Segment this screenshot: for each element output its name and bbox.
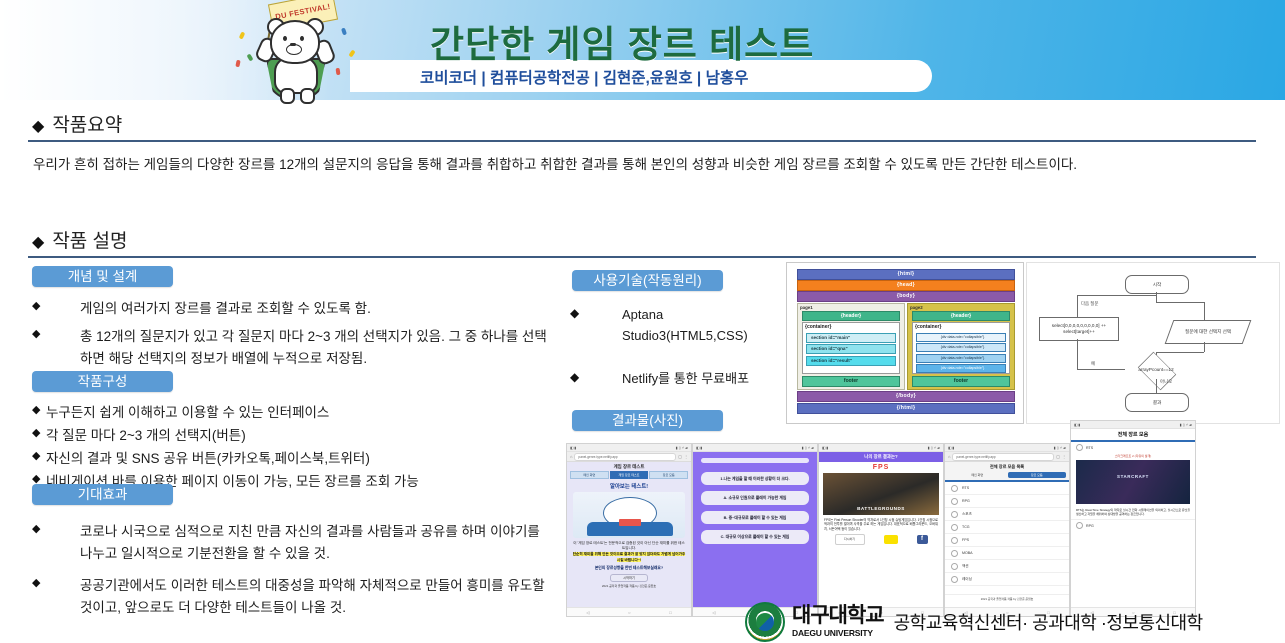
tab-main[interactable]: 메인 화면 bbox=[570, 471, 609, 479]
diagram-div-collapsible: {div data-role="collapsible"} bbox=[916, 333, 1006, 342]
effect-bullet-list: ◆ 코로나 시국으로 심적으로 지친 만큼 자신의 결과를 사람들과 공유를 하… bbox=[32, 521, 552, 624]
diagram-row-html-close: {/html} bbox=[797, 403, 1015, 414]
progress-bar bbox=[701, 458, 809, 463]
flow-connector bbox=[1077, 295, 1157, 296]
badge-result: 결과물(사진) bbox=[572, 410, 723, 431]
flow-yes-label: 예 bbox=[1091, 361, 1095, 367]
tab-test[interactable]: 게임 장르 테스트 bbox=[610, 471, 649, 479]
concept-bullet-list: ◆ 게임의 여러가지 장르를 결과로 조회할 수 있도록 함. ◆ 총 12개의… bbox=[32, 298, 552, 376]
screenshot-genre-list-screen: ◧ ▮▮ ▯ ⚡ ▰ ⌂ panel-genre-type.netlify.ap… bbox=[944, 443, 1070, 617]
genre-label: MOBA bbox=[962, 551, 973, 555]
share-button-row[interactable]: 다시하기 f bbox=[819, 531, 943, 545]
intro-paragraph: 이 '게임 장르 테스트'는 전문적으로 검증된 것이 아닌 단순 재미를 위한… bbox=[567, 538, 691, 551]
radio-icon[interactable] bbox=[951, 550, 958, 557]
game-image-caption: STARCRAFT bbox=[1076, 474, 1190, 479]
tab-main[interactable]: 메인 화면 bbox=[948, 472, 1007, 478]
result-title: 나의 장르 결과는? bbox=[819, 452, 943, 462]
diamond-bullet-icon: ◆ bbox=[32, 326, 80, 344]
diamond-bullet-icon: ◆ bbox=[32, 402, 46, 420]
flow-start-node: 시작 bbox=[1125, 275, 1189, 294]
confetti-icon bbox=[235, 60, 240, 68]
radio-icon[interactable] bbox=[1076, 522, 1083, 529]
confetti-icon bbox=[348, 49, 355, 57]
summary-divider bbox=[28, 140, 1256, 142]
flow-connector bbox=[1156, 379, 1157, 393]
radio-icon[interactable] bbox=[951, 524, 958, 531]
retry-button[interactable]: 다시하기 bbox=[835, 534, 865, 545]
status-right: ▮ ▯ ⚡ ▰ bbox=[676, 446, 688, 450]
genre-label: RTS bbox=[962, 486, 969, 490]
diamond-bullet-icon: ◆ bbox=[32, 521, 80, 539]
diamond-bullet-icon: ◆ bbox=[32, 448, 46, 466]
diagram-div-collapsible: {div data-role="collapsible"} bbox=[916, 364, 1006, 373]
mascot-leg-right bbox=[300, 88, 315, 104]
diamond-bullet-icon: ◆ bbox=[570, 304, 622, 323]
list-item: ◆ Netlify를 통한 무료배포 bbox=[570, 368, 770, 389]
diamond-bullet-icon: ◆ bbox=[32, 425, 46, 443]
list-item: ◆ 공공기관에서도 이러한 테스트의 대중성을 파악해 자체적으로 만들어 흥미… bbox=[32, 575, 552, 619]
radio-icon[interactable] bbox=[951, 498, 958, 505]
status-left: ◧ ▮ bbox=[1074, 423, 1080, 427]
diamond-bullet-icon: ◆ bbox=[32, 575, 80, 593]
tabs-icon: ▢ bbox=[678, 454, 682, 459]
department-names: 공학교육혁신센터· 공과대학 ·정보통신대학 bbox=[894, 609, 1203, 635]
diagram-row-head: {head} bbox=[797, 280, 1015, 291]
status-right: ▮ ▯ ⚡ ▰ bbox=[928, 446, 940, 450]
badge-composition: 작품구성 bbox=[32, 371, 173, 392]
flow-end-node: 결과 bbox=[1125, 393, 1189, 412]
composition-bullet-list: ◆ 누구든지 쉽게 이해하고 이용할 수 있는 인터페이스 ◆ 각 질문 마다 … bbox=[32, 402, 562, 493]
radio-icon[interactable] bbox=[951, 511, 958, 518]
badge-effect: 기대효과 bbox=[32, 484, 173, 505]
university-name-block: 대구대학교 DAEGU UNIVERSITY bbox=[792, 605, 884, 638]
list-item[interactable]: RPG bbox=[1071, 519, 1195, 531]
poster-title: 간단한 게임 장르 테스트 bbox=[430, 14, 814, 68]
mascot-head bbox=[270, 20, 320, 64]
summary-body-text: 우리가 흔히 접하는 게임들의 다양한 장르를 12개의 설문지의 응답을 통해… bbox=[33, 155, 1243, 176]
status-left: ◧ ▮ bbox=[696, 446, 702, 450]
phone-status-bar: ◧ ▮▮ ▯ ⚡ ▰ bbox=[693, 444, 817, 452]
home-icon: ⌂ bbox=[948, 454, 950, 459]
html-structure-diagram: {html} {head} {body} page1 {header} {con… bbox=[791, 267, 1019, 419]
book-shape bbox=[619, 519, 641, 526]
list-item: ◆ 총 12개의 질문지가 있고 각 질문지 마다 2~3 개의 선택지가 있음… bbox=[32, 326, 552, 370]
flow-input-label: 질문에 대한 선택지 선택 bbox=[1185, 329, 1231, 335]
recents-icon[interactable]: □ bbox=[669, 610, 671, 615]
confetti-icon bbox=[336, 68, 341, 75]
radio-icon[interactable] bbox=[951, 563, 958, 570]
diagram-row-body-close: {/body} bbox=[797, 391, 1015, 402]
effect-item-text: 공공기관에서도 이러한 테스트의 대중성을 파악해 자체적으로 만들어 흥미를 … bbox=[80, 575, 552, 619]
genre-label: 액션 bbox=[962, 564, 969, 569]
diamond-bullet-icon: ◆ bbox=[32, 298, 80, 316]
flow-decision-label: arrayPcount==12 bbox=[1138, 367, 1173, 373]
diagram-page2-box: page2 {header} {container} {div data-rol… bbox=[907, 303, 1015, 390]
site-title: 전체 장르 모음 목록 bbox=[945, 462, 1069, 472]
diagram-page1-container: {container} section id="main" section id… bbox=[802, 322, 900, 374]
genre-label: FPS bbox=[962, 538, 969, 542]
diagram-page1-footer: footer bbox=[802, 376, 900, 387]
intro-question: 본인의 장르성향을 한번 테스트해보실래요? bbox=[567, 563, 691, 571]
tab-genres[interactable]: 장르 모음 bbox=[649, 471, 688, 479]
status-left: ◧ ▮ bbox=[570, 446, 576, 450]
genre-label: 레이싱 bbox=[962, 577, 972, 582]
flow-connector bbox=[1077, 295, 1078, 317]
tech-item-text: Netlify를 통한 무료배포 bbox=[622, 368, 749, 389]
diagram-page2-footer: footer bbox=[912, 376, 1010, 387]
diagram-div-collapsible: {div data-role="collapsible"} bbox=[916, 343, 1006, 352]
list-item[interactable]: MOBA bbox=[945, 547, 1069, 560]
confetti-icon bbox=[341, 28, 347, 36]
poster-header: DU FESTIVAL! 간단한 게임 장르 테스트 코비코더 | 컴퓨터공학전… bbox=[0, 0, 1285, 100]
nav-tabs[interactable]: 메인 화면 게임 장르 테스트 장르 모음 bbox=[567, 471, 691, 481]
concept-item-text: 총 12개의 질문지가 있고 각 질문지 마다 2~3 개의 선택지가 있음. … bbox=[80, 326, 552, 370]
composition-item-text: 각 질문 마다 2~3 개의 선택지(버튼) bbox=[46, 425, 246, 447]
university-name-en: DAEGU UNIVERSITY bbox=[792, 628, 884, 638]
phone-status-bar: ◧ ▮▮ ▯ ⚡ ▰ bbox=[945, 444, 1069, 452]
diagram-section-main: section id="main" bbox=[806, 333, 896, 343]
highlighted-text: 단순히 재미를 위해 만든 것이므로 결과가 잘 맞지 않더라도 가볍게 넘어가… bbox=[573, 552, 685, 561]
genre-detail-body: 전체 장르 모음 RTS 스타크래프트 2 (자유의 날개) STARCRAFT… bbox=[1071, 429, 1195, 607]
genre-label: RPG bbox=[1086, 524, 1094, 528]
diamond-bullet-icon: ◆ bbox=[32, 118, 44, 135]
flow-connector bbox=[1156, 292, 1157, 302]
genre-label: RTS bbox=[1086, 446, 1093, 450]
mascot-eye-left bbox=[283, 36, 287, 41]
flow-input-node: 질문에 대한 선택지 선택 bbox=[1165, 320, 1252, 344]
poster-subtitle: 코비코더 | 컴퓨터공학전공 | 김현준,윤원호 | 남홍우 bbox=[420, 66, 748, 88]
intro-illustration bbox=[573, 492, 685, 538]
status-right: ▮ ▯ ⚡ ▰ bbox=[1180, 423, 1192, 427]
back-icon[interactable]: ◁ bbox=[712, 610, 715, 615]
status-left: ◧ ▮ bbox=[948, 446, 954, 450]
list-item[interactable]: FPS bbox=[945, 534, 1069, 547]
genre-label: TCG bbox=[962, 525, 970, 529]
radio-icon[interactable] bbox=[951, 485, 958, 492]
result-description: FPS는 First Person Shooter의 약자로서 1인칭 시점 슈… bbox=[819, 515, 943, 531]
url-text[interactable]: panel-genre-type.netlify.app bbox=[952, 453, 1054, 461]
genre-label: RPG bbox=[962, 499, 970, 503]
flowchart: 시작 질문에 대한 선택지 선택 select[0,0,0,0,0,0,0,0,… bbox=[1029, 265, 1275, 419]
detail-game-image: STARCRAFT bbox=[1076, 460, 1190, 504]
screenshot-genre-detail-screen: ◧ ▮▮ ▯ ⚡ ▰ 전체 장르 모음 RTS 스타크래프트 2 (자유의 날개… bbox=[1070, 420, 1196, 617]
detail-description: RTS는 Real-Time Strategy의 약자로 실시간 전략 시뮬레이… bbox=[1071, 505, 1195, 516]
flow-no-label: 아니오 bbox=[1160, 379, 1172, 385]
badge-concept: 개념 및 설계 bbox=[32, 266, 173, 287]
list-item: ◆ Aptana Studio3(HTML5,CSS) bbox=[570, 304, 770, 346]
game-subtitle: 스타크래프트 2 (자유의 날개) bbox=[1071, 453, 1195, 459]
effect-item-text: 코로나 시국으로 심적으로 지친 만큼 자신의 결과를 사람들과 공유를 하며 … bbox=[80, 521, 552, 565]
tab-genres[interactable]: 장르 모음 bbox=[1008, 472, 1067, 478]
diagram-page2-container: {container} {div data-role="collapsible"… bbox=[912, 322, 1010, 374]
tech-item-text: Aptana Studio3(HTML5,CSS) bbox=[622, 304, 770, 346]
menu-icon: ⋮ bbox=[684, 454, 688, 459]
screenshot-result-screen: ◧ ▮▮ ▯ ⚡ ▰ 나의 장르 결과는? FPS BATTLEGROUNDS … bbox=[818, 443, 944, 617]
diagram-row-body: {body} bbox=[797, 291, 1015, 302]
status-right: ▮ ▯ ⚡ ▰ bbox=[1054, 446, 1066, 450]
result-page-body: FPS BATTLEGROUNDS FPS는 First Person Shoo… bbox=[819, 462, 943, 612]
diamond-bullet-icon: ◆ bbox=[570, 368, 622, 387]
detail-title: 전체 장르 모음 bbox=[1071, 429, 1195, 440]
diagram-page1-label: page1 bbox=[800, 305, 813, 310]
intro-headline: 알아보는 테스트! bbox=[567, 482, 691, 490]
flow-connector bbox=[1204, 302, 1205, 320]
tech-bullet-list: ◆ Aptana Studio3(HTML5,CSS) ◆ Netlify를 통… bbox=[570, 304, 770, 411]
composition-item-text: 자신의 결과 및 SNS 공유 버튼(카카오톡,페이스북,트위터) bbox=[46, 448, 370, 470]
genre-label: 스포츠 bbox=[962, 512, 972, 517]
list-item: ◆ 자신의 결과 및 SNS 공유 버튼(카카오톡,페이스북,트위터) bbox=[32, 448, 562, 470]
diamond-bullet-icon: ◆ bbox=[32, 234, 44, 251]
question-page-body: 1.나는 게임을 할 때 이러한 상황이 더 크다. A. 소규모 인원으로 플… bbox=[693, 452, 817, 616]
home-icon: ⌂ bbox=[570, 454, 572, 459]
list-item: ◆ 누구든지 쉽게 이해하고 이용할 수 있는 인터페이스 bbox=[32, 402, 562, 424]
composition-item-text: 누구든지 쉽게 이해하고 이용할 수 있는 인터페이스 bbox=[46, 402, 329, 424]
facebook-share-icon[interactable]: f bbox=[917, 535, 928, 544]
kakao-share-icon[interactable] bbox=[884, 535, 898, 544]
back-icon[interactable]: ◁ bbox=[586, 610, 589, 615]
flow-connector bbox=[1156, 352, 1204, 353]
description-divider bbox=[28, 256, 1256, 258]
result-game-image: BATTLEGROUNDS bbox=[823, 473, 939, 515]
concept-item-text: 게임의 여러가지 장르를 결과로 조회할 수 있도록 함. bbox=[80, 298, 371, 320]
list-item[interactable]: 레이싱 bbox=[945, 573, 1069, 586]
diagram-page2-header: {header} bbox=[912, 311, 1010, 321]
start-button[interactable]: 시작하기 bbox=[610, 574, 648, 582]
option-button-b[interactable]: B. 중~대규모로 플레이 할 수 있는 게임 bbox=[701, 511, 809, 524]
diagram-section-qna: section id="qna" bbox=[806, 344, 896, 354]
radio-icon[interactable] bbox=[951, 537, 958, 544]
url-text[interactable]: panel-genre-type.netlify.app bbox=[574, 453, 676, 461]
status-left: ◧ ▮ bbox=[822, 446, 828, 450]
confetti-icon bbox=[247, 53, 254, 61]
diagram-page2-container-label: {container} bbox=[913, 323, 1009, 331]
home-icon[interactable]: ○ bbox=[628, 610, 630, 615]
html-structure-diagram-panel: {html} {head} {body} page1 {header} {con… bbox=[786, 262, 1024, 424]
flow-connector bbox=[1077, 339, 1078, 369]
question-text: 1.나는 게임을 할 때 이러한 상황이 더 크다. bbox=[701, 472, 809, 485]
list-item[interactable]: RPG bbox=[945, 495, 1069, 508]
mascot-nose bbox=[290, 43, 296, 46]
badge-tech: 사용기술(작동원리) bbox=[572, 270, 723, 291]
genre-list-body: 전체 장르 모음 목록 메인 화면 장르 모음 RTS RPG 스포츠 TCG … bbox=[945, 462, 1069, 610]
daegu-university-logo-icon bbox=[745, 602, 785, 642]
diagram-div-collapsible: {div data-role="collapsible"} bbox=[916, 354, 1006, 363]
list-item[interactable]: RTS bbox=[945, 482, 1069, 495]
status-right: ▮ ▯ ⚡ ▰ bbox=[802, 446, 814, 450]
flow-connector bbox=[1077, 369, 1125, 370]
list-item: ◆ 게임의 여러가지 장르를 결과로 조회할 수 있도록 함. bbox=[32, 298, 552, 320]
browser-url-bar[interactable]: ⌂ panel-genre-type.netlify.app ▢ ⋮ bbox=[945, 452, 1069, 462]
menu-icon: ⋮ bbox=[1062, 454, 1066, 459]
phone-status-bar: ◧ ▮▮ ▯ ⚡ ▰ bbox=[567, 444, 691, 452]
flowchart-panel: 시작 질문에 대한 선택지 선택 select[0,0,0,0,0,0,0,0,… bbox=[1026, 262, 1280, 424]
list-item[interactable]: 액션 bbox=[945, 560, 1069, 573]
game-image-caption: BATTLEGROUNDS bbox=[823, 506, 939, 511]
flow-process-node: select[0,0,0,0,0,0,0,0,0] ++ select[targ… bbox=[1039, 317, 1119, 341]
summary-section-heading: ◆작품요약 bbox=[32, 110, 122, 137]
flow-loop-label: 다음 질문 bbox=[1081, 301, 1098, 307]
nav-tabs[interactable]: 메인 화면 장르 모음 bbox=[945, 472, 1069, 480]
description-heading-label: 작품 설명 bbox=[52, 231, 127, 252]
confetti-icon bbox=[239, 31, 246, 39]
flow-connector bbox=[1156, 302, 1204, 303]
intro-page-body: 게임 장르 테스트 메인 화면 게임 장르 테스트 장르 모음 알아보는 테스트… bbox=[567, 462, 691, 610]
option-button-c[interactable]: C. 대규모 이상으로 플레이 할 수 있는 게임 bbox=[701, 530, 809, 543]
tabs-icon: ▢ bbox=[1056, 454, 1060, 459]
list-item: ◆ 각 질문 마다 2~3 개의 선택지(버튼) bbox=[32, 425, 562, 447]
list-item[interactable]: 스포츠 bbox=[945, 508, 1069, 521]
mascot-eye-right bbox=[300, 36, 304, 41]
list-item[interactable]: TCG bbox=[945, 521, 1069, 534]
radio-icon[interactable] bbox=[1076, 444, 1083, 451]
diagram-page1-header: {header} bbox=[802, 311, 900, 321]
screenshot-intro-screen: ◧ ▮▮ ▯ ⚡ ▰ ⌂ panel-genre-type.netlify.ap… bbox=[566, 443, 692, 617]
diagram-section-result: section id="result" bbox=[806, 356, 896, 366]
phone-status-bar: ◧ ▮▮ ▯ ⚡ ▰ bbox=[819, 444, 943, 452]
option-button-a[interactable]: A. 소규모 인원으로 플레이 가능한 게임 bbox=[701, 491, 809, 504]
page-footer-credit: 2021 공학과 졸업작품 작품 by 김현준,윤원호 bbox=[567, 582, 691, 588]
phone-nav-bar[interactable]: ◁○□ bbox=[567, 607, 691, 616]
poster-footer: 대구대학교 DAEGU UNIVERSITY 공학교육혁신센터· 공과대학 ·정… bbox=[745, 600, 1285, 643]
diagram-page1-container-label: {container} bbox=[803, 323, 899, 331]
description-section-heading: ◆작품 설명 bbox=[32, 226, 128, 253]
flow-connector bbox=[1204, 342, 1205, 352]
screenshot-question-screen: ◧ ▮▮ ▯ ⚡ ▰ 1.나는 게임을 할 때 이러한 상황이 더 크다. A.… bbox=[692, 443, 818, 617]
mascot-tiger-illustration: DU FESTIVAL! bbox=[218, 0, 368, 102]
site-title: 게임 장르 테스트 bbox=[567, 462, 691, 471]
radio-icon[interactable] bbox=[951, 576, 958, 583]
browser-url-bar[interactable]: ⌂ panel-genre-type.netlify.app ▢ ⋮ bbox=[567, 452, 691, 462]
diagram-page2-label: page2 bbox=[910, 305, 923, 310]
list-item: ◆ 코로나 시국으로 심적으로 지친 만큼 자신의 결과를 사람들과 공유를 하… bbox=[32, 521, 552, 565]
university-name-ko: 대구대학교 bbox=[792, 605, 884, 626]
mascot-leg-left bbox=[280, 88, 295, 104]
phone-status-bar: ◧ ▮▮ ▯ ⚡ ▰ bbox=[1071, 421, 1195, 429]
result-genre: FPS bbox=[819, 462, 943, 473]
diagram-page1-box: page1 {header} {container} section id="m… bbox=[797, 303, 905, 390]
summary-heading-label: 작품요약 bbox=[52, 115, 122, 136]
diagram-row-html-open: {html} bbox=[797, 269, 1015, 280]
list-item[interactable]: RTS bbox=[1071, 442, 1195, 453]
intro-paragraph-highlight: 단순히 재미를 위해 만든 것이므로 결과가 잘 맞지 않더라도 가볍게 넘어가… bbox=[567, 551, 691, 562]
